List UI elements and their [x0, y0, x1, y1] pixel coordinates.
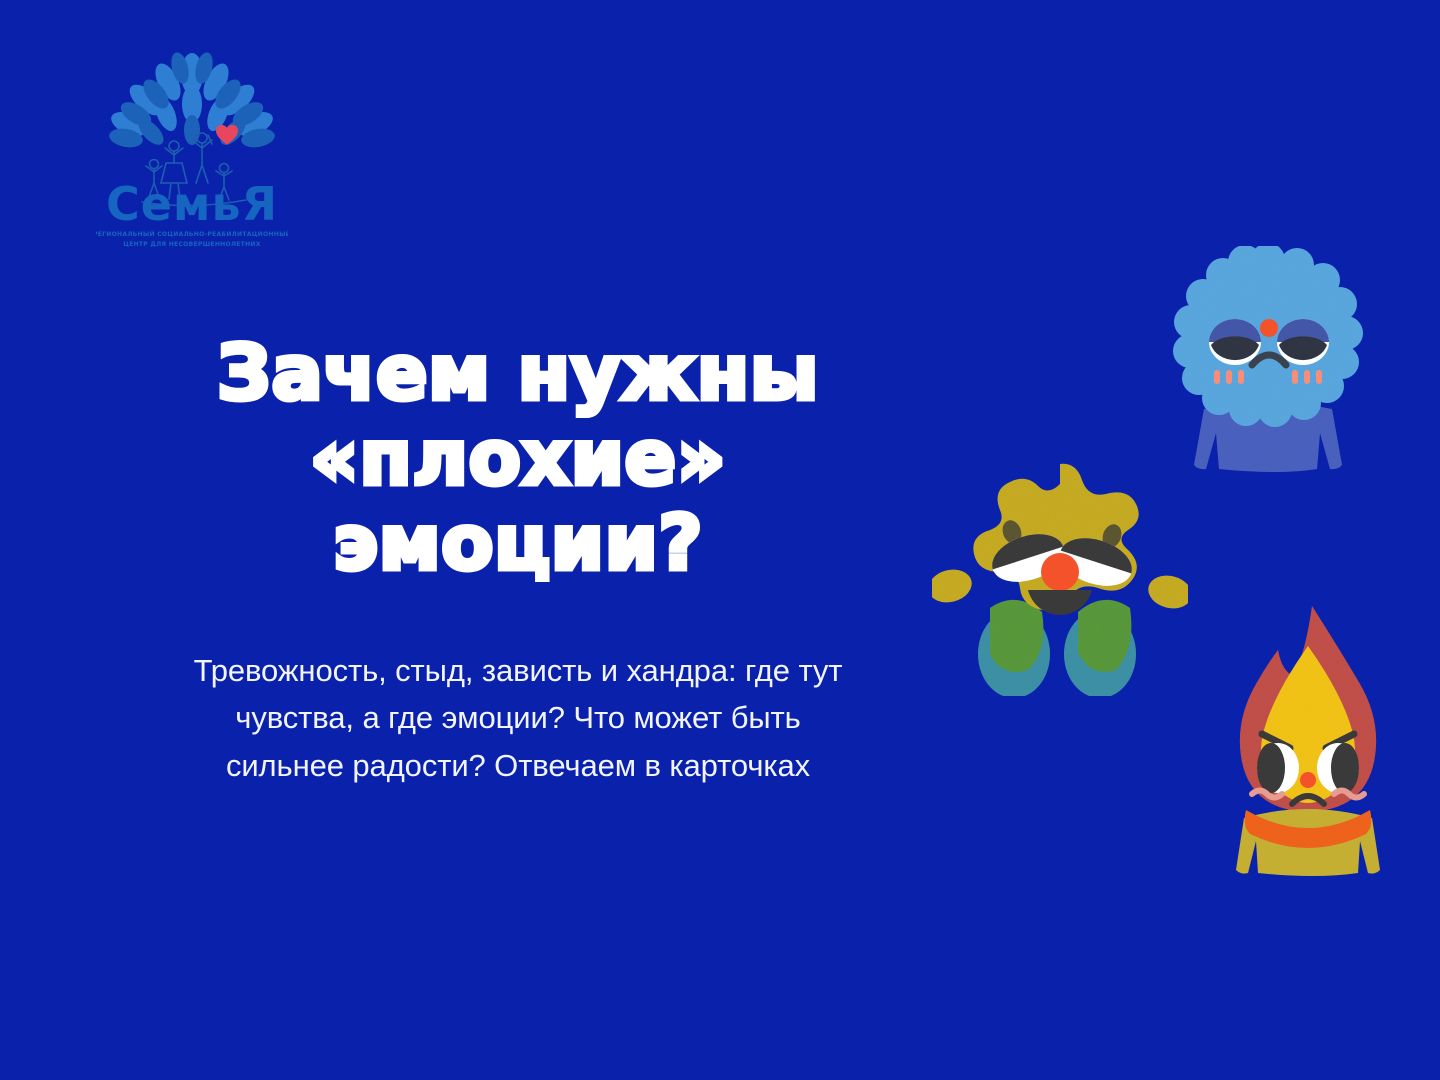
semya-logo: СемьЯ РЕГИОНАЛЬНЫЙ СОЦИАЛЬНО-РЕАБИЛИТАЦИ…: [96, 52, 288, 257]
star-nose: [1041, 553, 1079, 591]
cloud-left-eye: [1209, 319, 1261, 365]
subtitle-line-3: сильнее радости? Отвечаем в карточках: [88, 742, 948, 789]
logo-tree-leaves: [108, 52, 277, 150]
flame-right-eye: [1317, 743, 1359, 793]
subtitle-line-1: Тревожность, стыд, зависть и хандра: где…: [88, 647, 948, 694]
star-creature-illustration: [932, 458, 1188, 696]
page-title: Зачем нужны «плохие» эмоции?: [88, 330, 948, 585]
flame-nose: [1300, 772, 1316, 788]
headline-line-1: Зачем нужны: [88, 330, 948, 415]
slide-text-column: Зачем нужны «плохие» эмоции? Тревожность…: [88, 330, 948, 789]
headline-line-2: «плохие»: [88, 415, 948, 500]
headline-line-3: эмоции?: [88, 500, 948, 585]
cloud-nose: [1260, 319, 1278, 337]
svg-text:ЦЕНТР ДЛЯ НЕСОВЕРШЕННОЛЕТНИХ: ЦЕНТР ДЛЯ НЕСОВЕРШЕННОЛЕТНИХ: [123, 241, 261, 248]
flame-left-eye: [1257, 743, 1299, 793]
subtitle-line-2: чувства, а где эмоции? Что может быть: [88, 694, 948, 741]
svg-text:РЕГИОНАЛЬНЫЙ СОЦИАЛЬНО-РЕАБИЛИ: РЕГИОНАЛЬНЫЙ СОЦИАЛЬНО-РЕАБИЛИТАЦИОННЫЙ: [96, 229, 288, 238]
subtitle: Тревожность, стыд, зависть и хандра: где…: [88, 647, 948, 788]
logo-tagline: РЕГИОНАЛЬНЫЙ СОЦИАЛЬНО-РЕАБИЛИТАЦИОННЫЙ …: [96, 229, 288, 248]
logo-wordmark: СемьЯ: [106, 177, 278, 231]
cloud-right-eye: [1277, 319, 1329, 365]
cloud-right-blush: [1292, 370, 1322, 384]
flame-creature-illustration: [1204, 604, 1412, 880]
cloud-left-blush: [1214, 370, 1244, 384]
svg-text:СемьЯ: СемьЯ: [106, 177, 278, 231]
cloud-creature-illustration: [1146, 246, 1390, 478]
